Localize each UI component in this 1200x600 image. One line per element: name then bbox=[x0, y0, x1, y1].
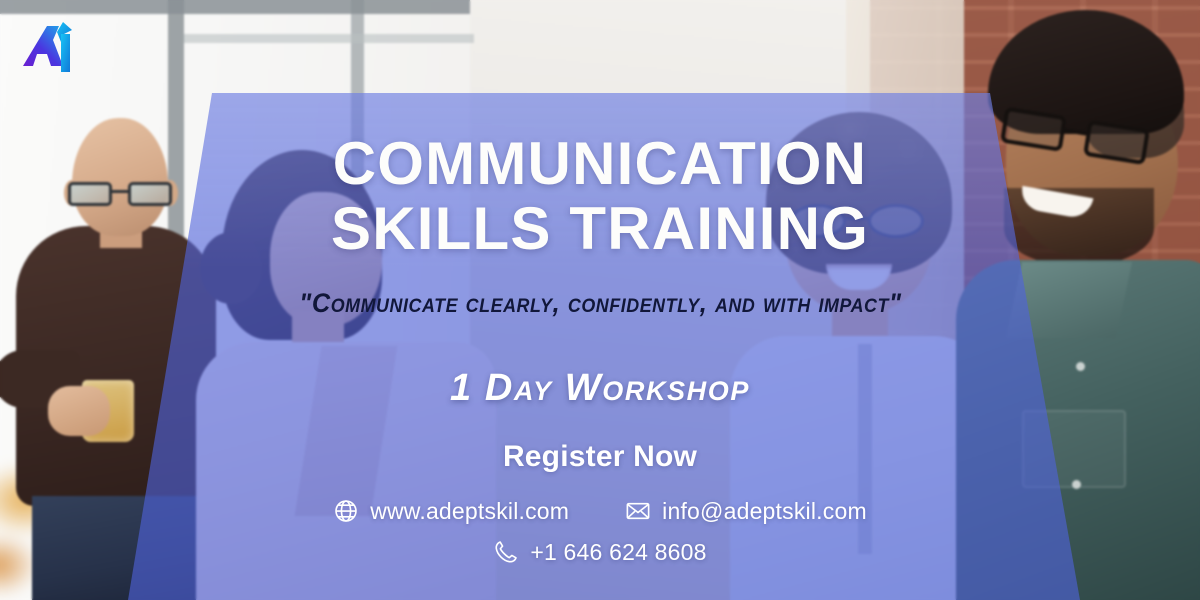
phone-icon bbox=[493, 539, 519, 565]
globe-icon bbox=[333, 498, 359, 524]
contact-row-phone: +1 646 624 8608 bbox=[493, 539, 706, 566]
envelope-icon bbox=[625, 498, 651, 524]
contact-website[interactable]: www.adeptskil.com bbox=[333, 498, 569, 525]
contact-row: www.adeptskil.com info@adeptskil.com bbox=[333, 498, 867, 525]
title-line-2: SKILLS TRAINING bbox=[331, 197, 869, 262]
workshop-duration: 1 Day Workshop bbox=[450, 367, 750, 410]
banner-content: COMMUNICATION SKILLS TRAINING "Communica… bbox=[0, 0, 1200, 600]
contact-website-label: www.adeptskil.com bbox=[370, 498, 569, 525]
contact-phone[interactable]: +1 646 624 8608 bbox=[493, 539, 706, 566]
page-title: COMMUNICATION SKILLS TRAINING bbox=[331, 132, 869, 262]
contact-email[interactable]: info@adeptskil.com bbox=[625, 498, 867, 525]
register-cta[interactable]: Register Now bbox=[503, 440, 697, 474]
title-line-1: COMMUNICATION bbox=[331, 132, 869, 197]
event-banner: COMMUNICATION SKILLS TRAINING "Communica… bbox=[0, 0, 1200, 600]
tagline: "Communicate clearly, confidently, and w… bbox=[299, 288, 901, 319]
contact-email-label: info@adeptskil.com bbox=[662, 498, 867, 525]
contact-phone-label: +1 646 624 8608 bbox=[530, 539, 706, 566]
